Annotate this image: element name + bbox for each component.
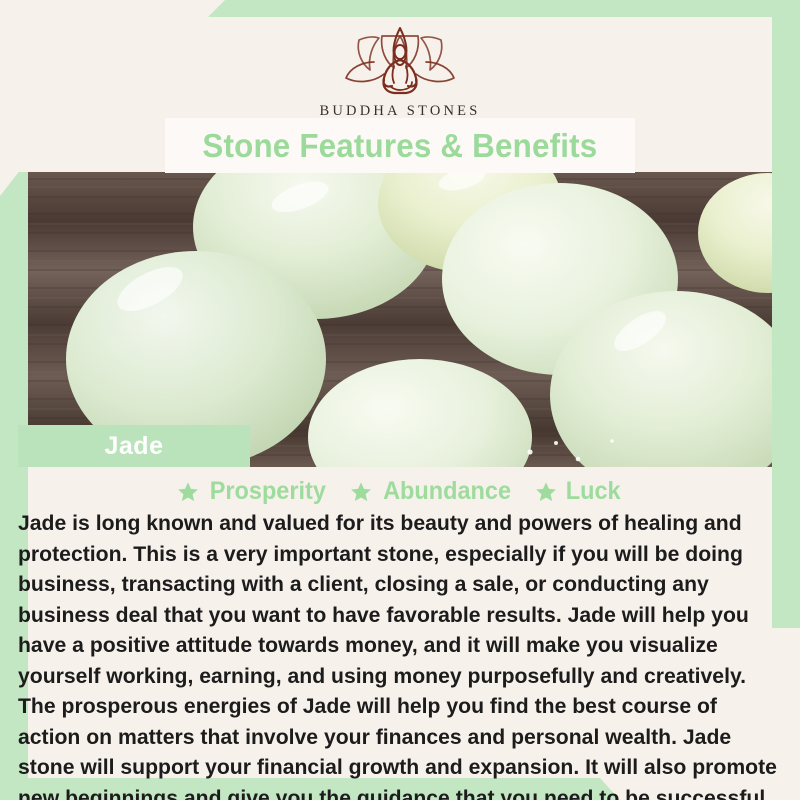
stone-photo [0,167,800,467]
star-icon [535,481,557,503]
stone-description-text: Jade is long known and valued for its be… [18,508,778,800]
lotus-meditation-icon [334,22,466,98]
benefit-item: Luck [535,477,622,506]
benefit-label: Luck [566,477,621,506]
brand-logo: BUDDHA STONES [0,22,800,120]
accent-bar-top [0,0,800,17]
benefit-item: Prosperity [177,477,330,506]
infographic-card: BUDDHA STONES Stone Features & Benefits … [0,0,800,800]
benefit-label: Abundance [383,477,511,506]
star-icon [350,481,372,503]
benefits-row: Prosperity Abundance Luck [0,477,800,506]
benefit-item: Abundance [350,477,515,506]
benefit-label: Prosperity [210,477,326,506]
stone-name: Jade [105,432,164,461]
page-title: Stone Features & Benefits [203,127,598,165]
stone-name-badge: Jade [18,425,250,467]
title-banner: Stone Features & Benefits [165,118,635,173]
stone-description: Jade is long known and valued for its be… [18,508,778,800]
star-icon [177,481,199,503]
